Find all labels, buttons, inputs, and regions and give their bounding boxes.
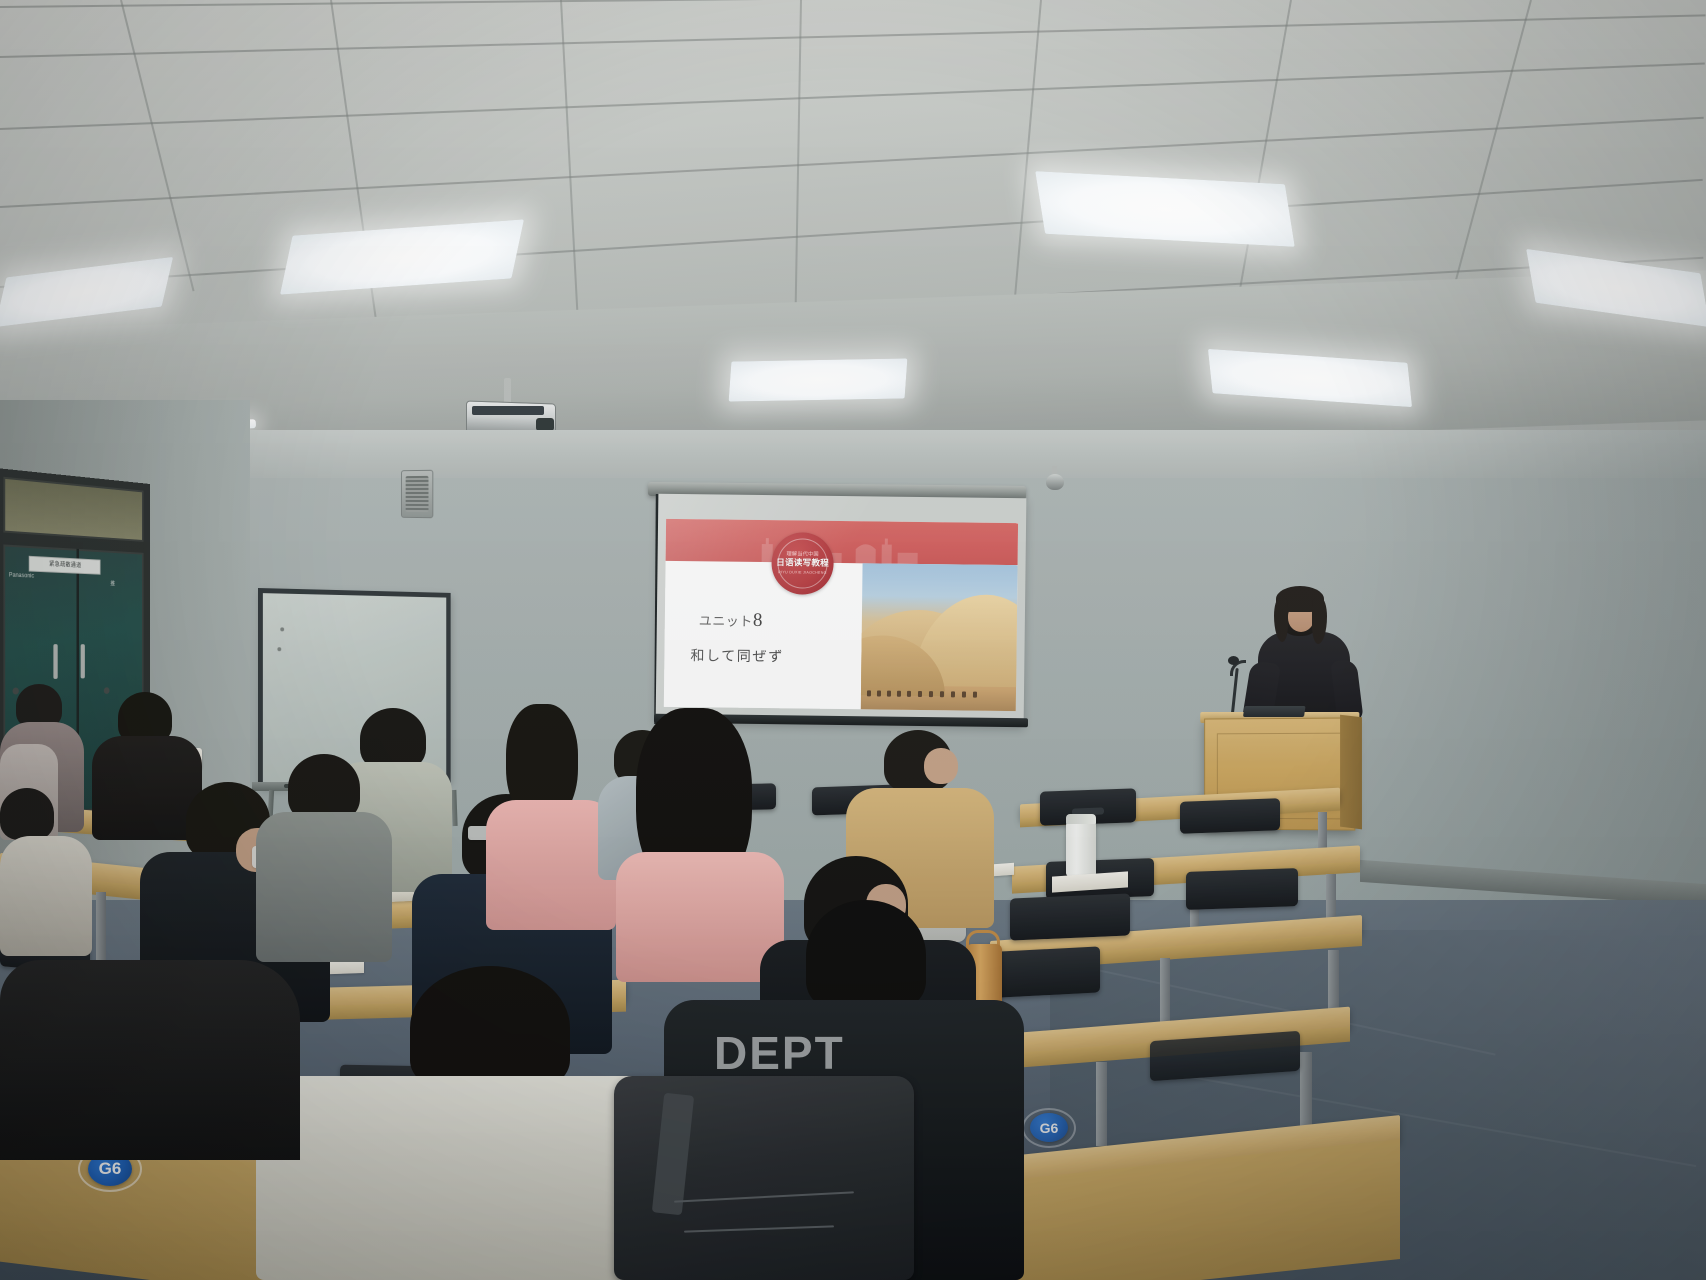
slide-unit-label: ユニット [699,613,753,629]
classroom-photo: 紧急疏散通道 Panasonic 推 [0,0,1706,1280]
slide-unit-line: ユニット8 [699,609,763,632]
dome-camera-icon [1046,474,1064,490]
door-brand-label: Panasonic [9,573,34,580]
textbook-badge: 理解当代中国 日语读写教程 RIYU DUXIE JIAOCHENG [771,532,834,595]
badge-ring [777,538,828,589]
student-hair [360,708,426,770]
projector-mount [504,378,511,404]
slide-header-band [666,519,1018,565]
slide-unit-number: 8 [753,610,763,631]
student-torso [256,812,392,962]
desk-leg [96,892,106,962]
ceiling-light-panel [729,358,908,401]
skyline-silhouette-icon [666,531,1018,565]
door-handle[interactable] [81,644,85,678]
student-head [924,748,958,784]
speaker-grille-icon [406,476,429,512]
chair [1186,868,1298,910]
hoodie-graphic-text: DEPT [714,1026,845,1080]
microphone-icon [1228,656,1239,665]
student-hair [806,900,926,1010]
door-push-label: 推 [110,579,115,588]
door-handle[interactable] [53,644,57,679]
presentation-slide: 理解当代中国 日语读写教程 RIYU DUXIE JIAOCHENG ユニット8… [664,519,1018,711]
podium-side [1340,715,1362,830]
student-torso [256,1076,676,1280]
projection-screen: 理解当代中国 日语读写教程 RIYU DUXIE JIAOCHENG ユニット8… [656,494,1027,726]
backpack [614,1076,914,1280]
desk-leg [1096,1062,1107,1146]
chair [1010,893,1130,940]
student-torso [486,800,616,930]
door-sign: 紧急疏散通道 [29,556,101,575]
camel-caravan [863,687,1014,698]
podium-keyboard[interactable] [1243,706,1306,717]
slide-title: 和して同ぜず [690,645,784,666]
thermos-flask [1066,820,1096,876]
student-hair [410,966,570,1090]
student-hair [0,788,54,840]
projector-vent [472,406,544,415]
desk-leg [1160,958,1170,1028]
door-transom-window [3,477,143,542]
student-torso [0,836,92,956]
student-torso [616,852,784,982]
instructor-hair [1274,598,1288,642]
badge-top-text: 理解当代中国 [786,552,818,558]
slide-desert-photo [861,563,1018,711]
chair [1180,798,1280,833]
student-torso [0,960,300,1160]
wall-speaker [401,470,433,518]
seat-number-sticker: G6 [1030,1113,1068,1142]
thermos-cap [1066,814,1096,824]
